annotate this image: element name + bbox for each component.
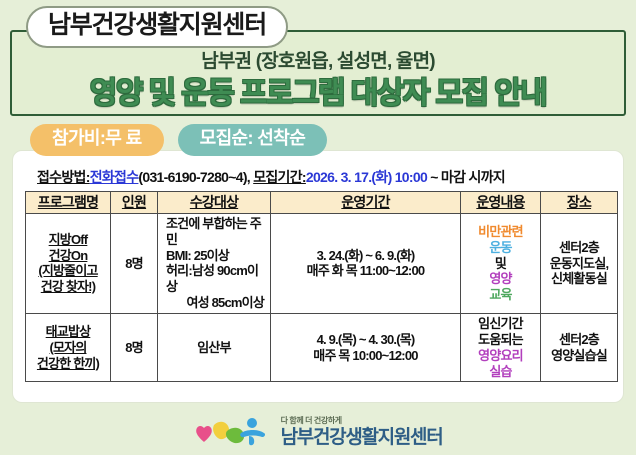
table-row: 태교밥상 (모자의 건강한 한끼) 8명 임산부 4. 9.(목) ~ 4. 3… (26, 314, 618, 382)
logo-center-name: 남부건강생활지원센터 (281, 428, 443, 447)
place-line: 센터2층 (543, 332, 615, 348)
place-line: 센터2층 (543, 240, 615, 256)
content-part: 교육 (463, 287, 538, 303)
column-header-place: 장소 (541, 191, 618, 213)
period-line: 3. 24.(화) ~ 6. 9.(화) (273, 248, 458, 264)
place-line: 운동지도실, (543, 256, 615, 272)
target-line: 조건에 부합하는 주민 (160, 216, 268, 248)
content-part: 운동 (463, 240, 538, 256)
registration-method-value: 전화접수 (90, 169, 139, 185)
fee-badge: 참가비:무 료 (30, 124, 164, 156)
period-line: 매주 화 목 11:00~12:00 (273, 263, 458, 279)
region-subtitle: 남부권 (장호원읍, 설성면, 율면) (12, 52, 624, 73)
cell-period: 4. 9.(목) ~ 4. 30.(목) 매주 목 10:00~12:00 (271, 314, 461, 382)
period-line: 매주 목 10:00~12:00 (273, 348, 458, 364)
content-line: 영양요리 (463, 348, 538, 364)
column-header-period: 운영기간 (271, 191, 461, 213)
center-name-pill-wrapper: 남부건강생활지원센터 (26, 6, 288, 48)
content-line: 실습 (463, 364, 538, 380)
registration-period-label: 모집기간: (253, 169, 306, 185)
program-name-line: 건강 찾자!) (28, 279, 108, 295)
cell-place: 센터2층 운동지도실, 신체활동실 (541, 213, 618, 313)
cell-capacity: 8명 (111, 314, 158, 382)
cell-program-name: 지방Off 건강On (지방줄이고 건강 찾자!) (26, 213, 111, 313)
registration-period-date: 2026. 3. 17.(화) 10:00 (306, 169, 427, 185)
content-line: 도움되는 (463, 332, 538, 348)
cell-period: 3. 24.(화) ~ 6. 9.(화) 매주 화 목 11:00~12:00 (271, 213, 461, 313)
content-line: 영양교육 (463, 271, 538, 303)
target-line: BMI: 25이상 (160, 248, 268, 264)
content-line: 운동 및 (463, 240, 538, 272)
logo-text-block: 다 함께 더 건강하게 남부건강생활지원센터 (281, 417, 443, 447)
program-name-line: (모자의 (28, 340, 108, 356)
order-badge: 모집순: 선착순 (178, 124, 328, 156)
program-name-line: 건강On (28, 248, 108, 264)
content-panel: 접수방법:전화접수(031-6190-7280~4), 모집기간:2026. 3… (12, 150, 624, 403)
table-row: 지방Off 건강On (지방줄이고 건강 찾자!) 8명 조건에 부합하는 주민… (26, 213, 618, 313)
program-name-line: 지방Off (28, 232, 108, 248)
content-part: 및 (463, 256, 538, 272)
table-header-row: 프로그램명 인원 수강대상 운영기간 운영내용 장소 (26, 191, 618, 213)
program-name-line: (지방줄이고 (28, 263, 108, 279)
column-header-capacity: 인원 (111, 191, 158, 213)
registration-method-label: 접수방법: (37, 169, 90, 185)
column-header-target: 수강대상 (158, 191, 271, 213)
place-line: 영양실습실 (543, 348, 615, 364)
program-table: 프로그램명 인원 수강대상 운영기간 운영내용 장소 지방Off 건강On (지… (25, 191, 618, 383)
center-name-pill: 남부건강생활지원센터 (26, 6, 288, 48)
program-name-line: 태교밥상 (28, 324, 108, 340)
registration-phone: (031-6190-7280~4), (138, 169, 250, 185)
cell-target: 임산부 (158, 314, 271, 382)
column-header-content: 운영내용 (461, 191, 541, 213)
cell-place: 센터2층 영양실습실 (541, 314, 618, 382)
content-line: 비만관련 (463, 224, 538, 240)
cell-program-name: 태교밥상 (모자의 건강한 한끼) (26, 314, 111, 382)
cell-content: 임신기간 도움되는 영양요리 실습 (461, 314, 541, 382)
cell-capacity: 8명 (111, 213, 158, 313)
cell-target: 조건에 부합하는 주민 BMI: 25이상 허리:남성 90cm이상 여성 85… (158, 213, 271, 313)
cell-content: 비만관련 운동 및 영양교육 (461, 213, 541, 313)
center-logo-icon (194, 415, 272, 449)
main-title: 영양 및 운동 프로그램 대상자 모집 안내 (12, 77, 624, 110)
target-line: 여성 85cm이상 (160, 295, 268, 311)
registration-period-tail: ~ 마감 시까지 (430, 169, 505, 185)
content-part: 영양 (463, 271, 538, 287)
place-line: 신체활동실 (543, 271, 615, 287)
content-line: 임신기간 (463, 316, 538, 332)
column-header-program-name: 프로그램명 (26, 191, 111, 213)
program-name-line: 건강한 한끼) (28, 356, 108, 372)
registration-info: 접수방법:전화접수(031-6190-7280~4), 모집기간:2026. 3… (37, 169, 613, 186)
logo-slogan: 다 함께 더 건강하게 (281, 417, 443, 425)
footer-logo-area: 다 함께 더 건강하게 남부건강생활지원센터 (0, 415, 636, 449)
target-line: 허리:남성 90cm이상 (160, 263, 268, 295)
badge-row: 참가비:무 료 모집순: 선착순 (30, 124, 327, 156)
period-line: 4. 9.(목) ~ 4. 30.(목) (273, 332, 458, 348)
